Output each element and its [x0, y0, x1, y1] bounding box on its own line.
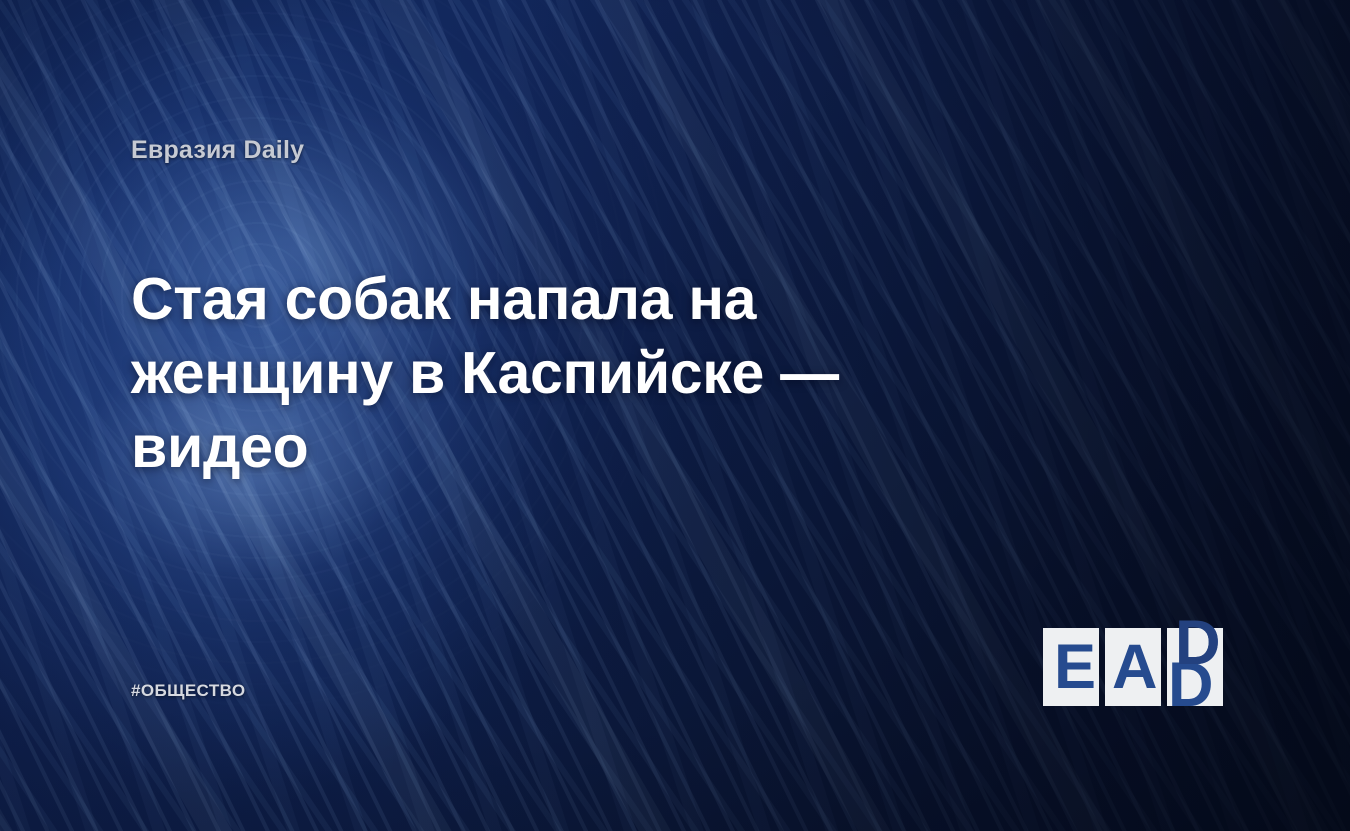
- category-tag: #ОБЩЕСТВО: [131, 681, 245, 701]
- headline: Стая собак напала на женщину в Каспийске…: [131, 262, 1031, 484]
- logo-letter-d-lower: D: [1168, 646, 1214, 706]
- eadaily-logo: E A D D D: [1043, 628, 1221, 706]
- news-share-card: Евразия Daily Стая собак напала на женщи…: [0, 0, 1350, 831]
- logo-letter-a: A: [1112, 628, 1158, 706]
- brand-title: Евразия Daily: [131, 136, 304, 165]
- card-content: Евразия Daily Стая собак напала на женщи…: [0, 0, 1350, 831]
- logo-letter-e: E: [1054, 628, 1096, 706]
- logo-tile-a: A: [1105, 628, 1161, 706]
- logo-tile-d: D D: [1167, 628, 1223, 706]
- logo-tile-e: E: [1043, 628, 1099, 706]
